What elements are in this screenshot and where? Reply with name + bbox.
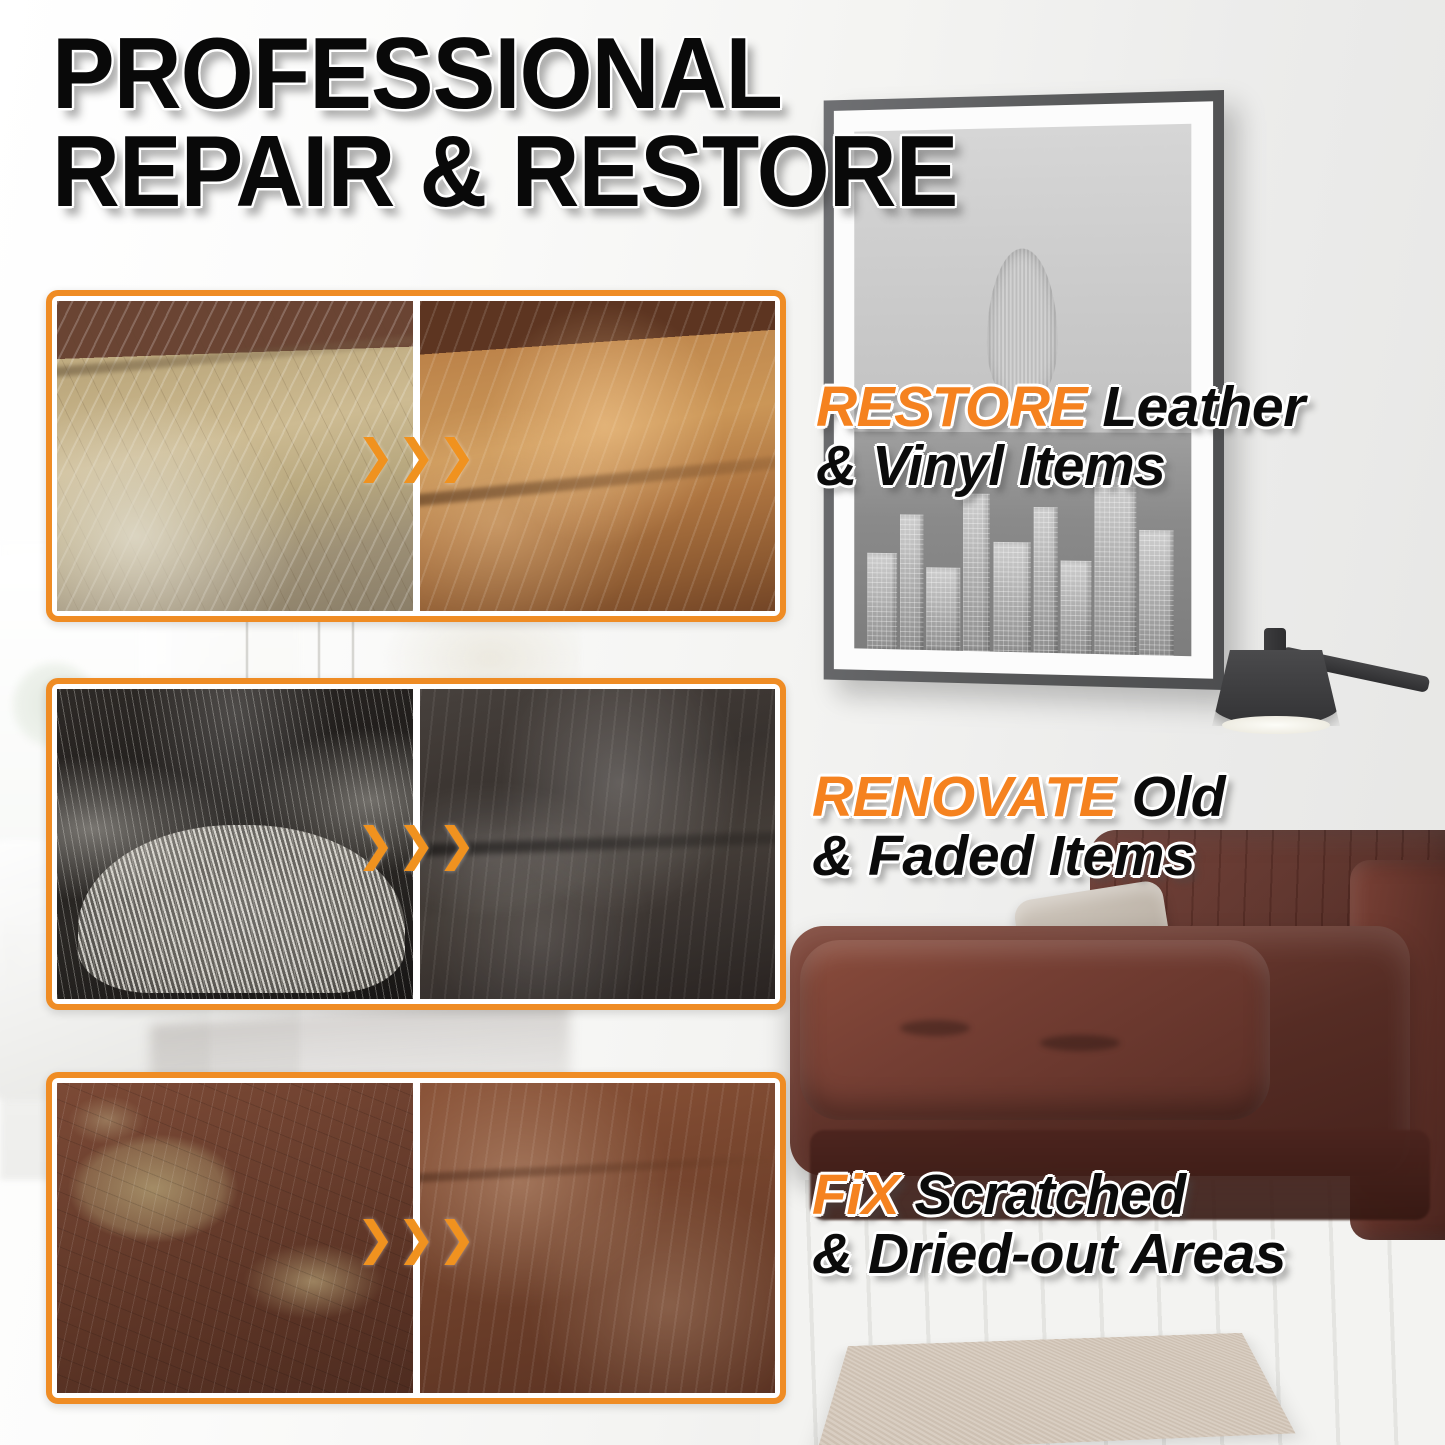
building xyxy=(1139,530,1174,655)
building xyxy=(1034,507,1058,653)
after-photo-recliner-black xyxy=(420,689,776,999)
claim-line1-rest: Old xyxy=(1116,765,1225,829)
claim-keyword: FiX xyxy=(812,1163,899,1227)
claim-keyword: RENOVATE xyxy=(812,765,1116,829)
before-photo-recliner-black xyxy=(57,689,413,999)
building xyxy=(1061,560,1092,654)
before-photo-sofa-tan xyxy=(57,301,413,611)
page-title: PROFESSIONAL REPAIR & RESTORE xyxy=(52,26,1075,222)
building xyxy=(867,553,897,649)
claim-line2: & Dried-out Areas xyxy=(812,1225,1286,1284)
claim-line1-rest: Leather xyxy=(1087,375,1305,439)
sofa-cushion xyxy=(800,940,1270,1120)
headline-line-2: REPAIR & RESTORE xyxy=(52,124,1075,222)
sofa-tuft xyxy=(900,1020,970,1036)
after-photo-sofa-brown xyxy=(420,1083,776,1393)
claim-line2: & Faded Items xyxy=(812,827,1225,886)
lamp-bulb xyxy=(1222,716,1330,734)
comparison-row-sofa-tan: ❯ ❯ ❯ xyxy=(46,290,786,622)
claim-keyword: RESTORE xyxy=(816,375,1087,439)
building xyxy=(927,567,960,651)
claim-restore: RESTORE Leather & Vinyl Items xyxy=(816,378,1305,497)
claim-line1-rest: Scratched xyxy=(899,1163,1185,1227)
claim-fix: FiX Scratched & Dried-out Areas xyxy=(812,1166,1286,1285)
lamp-shade xyxy=(1212,650,1340,726)
sofa-tuft xyxy=(1040,1035,1120,1051)
after-photo-sofa-tan xyxy=(420,301,776,611)
before-photo-sofa-brown xyxy=(57,1083,413,1393)
building xyxy=(1095,477,1136,655)
comparison-row-sofa-brown: ❯ ❯ ❯ xyxy=(46,1072,786,1404)
jute-rug xyxy=(816,1333,1295,1445)
claim-line2: & Vinyl Items xyxy=(816,437,1305,496)
claim-renovate: RENOVATE Old & Faded Items xyxy=(812,768,1225,887)
comparison-row-recliner-black: ❯ ❯ ❯ xyxy=(46,678,786,1010)
product-infographic: PROFESSIONAL REPAIR & RESTORE ❯ ❯ ❯ ❯ ❯ … xyxy=(0,0,1445,1445)
building xyxy=(900,514,923,650)
building xyxy=(963,493,990,651)
headline-line-1: PROFESSIONAL xyxy=(52,26,1075,124)
building xyxy=(993,542,1030,653)
